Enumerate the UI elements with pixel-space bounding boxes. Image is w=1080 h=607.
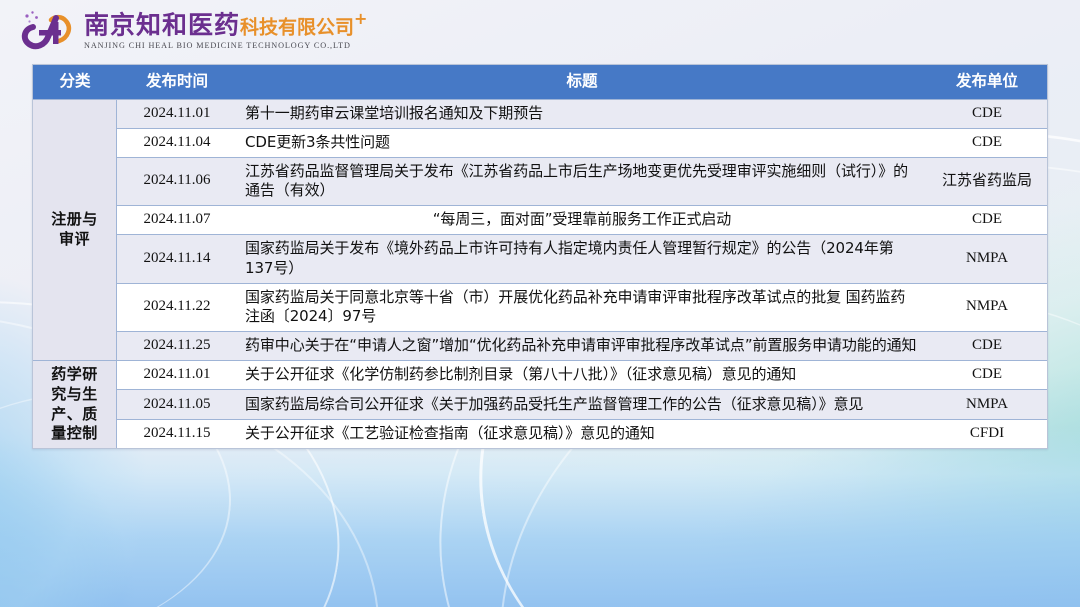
publish-date-cell: 2024.11.07 <box>117 205 237 234</box>
publishing-unit-cell: CDE <box>927 331 1047 360</box>
title-cell: 药审中心关于在“申请人之窗”增加“优化药品补充申请审评审批程序改革试点”前置服务… <box>237 331 927 360</box>
brand-name-english: NANJING CHI HEAL BIO MEDICINE TECHNOLOGY… <box>84 41 368 50</box>
table-body: 注册与审评2024.11.01第十一期药审云课堂培训报名通知及下期预告CDE20… <box>33 99 1047 448</box>
publish-date-cell: 2024.11.22 <box>117 283 237 332</box>
brand-plus-icon: + <box>354 9 368 28</box>
table-row: 2024.11.04CDE更新3条共性问题CDE <box>33 128 1047 157</box>
table-row: 2024.11.06江苏省药品监督管理局关于发布《江苏省药品上市后生产场地变更优… <box>33 157 1047 206</box>
column-header-unit: 发布单位 <box>927 65 1047 99</box>
publishing-unit-cell: CDE <box>927 128 1047 157</box>
brand-name-sub: 科技有限公司 <box>240 16 354 38</box>
column-header-category: 分类 <box>33 65 117 99</box>
brand-name: 南京知和医药科技有限公司+ <box>84 11 368 37</box>
company-logo-icon <box>16 8 78 54</box>
title-cell: 国家药监局关于发布《境外药品上市许可持有人指定境内责任人管理暂行规定》的公告（2… <box>237 234 927 283</box>
publishing-unit-cell: CDE <box>927 360 1047 389</box>
brand-text-block: 南京知和医药科技有限公司+ NANJING CHI HEAL BIO MEDIC… <box>84 11 368 50</box>
background-bottom-band <box>0 427 1080 607</box>
publishing-unit-cell: CDE <box>927 205 1047 234</box>
publishing-unit-cell: NMPA <box>927 389 1047 418</box>
table-row: 2024.11.15关于公开征求《工艺验证检查指南（征求意见稿）》意见的通知CF… <box>33 419 1047 448</box>
column-header-date: 发布时间 <box>117 65 237 99</box>
table-row: 2024.11.05国家药监局综合司公开征求《关于加强药品受托生产监督管理工作的… <box>33 389 1047 418</box>
publish-date-cell: 2024.11.15 <box>117 419 237 448</box>
title-cell: 国家药监局综合司公开征求《关于加强药品受托生产监督管理工作的公告（征求意见稿）》… <box>237 389 927 418</box>
category-cell: 注册与审评 <box>33 99 117 360</box>
slide-canvas: 南京知和医药科技有限公司+ NANJING CHI HEAL BIO MEDIC… <box>0 0 1080 607</box>
table-row: 2024.11.14国家药监局关于发布《境外药品上市许可持有人指定境内责任人管理… <box>33 234 1047 283</box>
table-row: 2024.11.22国家药监局关于同意北京等十省（市）开展优化药品补充申请审评审… <box>33 283 1047 332</box>
publishing-unit-cell: NMPA <box>927 234 1047 283</box>
column-header-title: 标题 <box>237 65 927 99</box>
publishing-unit-cell: 江苏省药监局 <box>927 157 1047 206</box>
publish-date-cell: 2024.11.01 <box>117 99 237 128</box>
table-row: 注册与审评2024.11.01第十一期药审云课堂培训报名通知及下期预告CDE <box>33 99 1047 128</box>
publishing-unit-cell: NMPA <box>927 283 1047 332</box>
title-cell: 关于公开征求《化学仿制药参比制剂目录（第八十八批）》（征求意见稿）意见的通知 <box>237 360 927 389</box>
publish-date-cell: 2024.11.01 <box>117 360 237 389</box>
publish-date-cell: 2024.11.25 <box>117 331 237 360</box>
title-cell: CDE更新3条共性问题 <box>237 128 927 157</box>
title-cell: 国家药监局关于同意北京等十省（市）开展优化药品补充申请审评审批程序改革试点的批复… <box>237 283 927 332</box>
title-cell: 江苏省药品监督管理局关于发布《江苏省药品上市后生产场地变更优先受理审评实施细则（… <box>237 157 927 206</box>
table-row: 2024.11.25药审中心关于在“申请人之窗”增加“优化药品补充申请审评审批程… <box>33 331 1047 360</box>
table-row: 2024.11.07“每周三，面对面”受理靠前服务工作正式启动CDE <box>33 205 1047 234</box>
publishing-unit-cell: CDE <box>927 99 1047 128</box>
category-cell: 药学研究与生产、质量控制 <box>33 360 117 448</box>
publish-date-cell: 2024.11.14 <box>117 234 237 283</box>
publishing-unit-cell: CFDI <box>927 419 1047 448</box>
publish-date-cell: 2024.11.05 <box>117 389 237 418</box>
title-cell: 关于公开征求《工艺验证检查指南（征求意见稿）》意见的通知 <box>237 419 927 448</box>
title-cell: 第十一期药审云课堂培训报名通知及下期预告 <box>237 99 927 128</box>
publish-date-cell: 2024.11.06 <box>117 157 237 206</box>
publish-date-cell: 2024.11.04 <box>117 128 237 157</box>
brand-header: 南京知和医药科技有限公司+ NANJING CHI HEAL BIO MEDIC… <box>0 0 1080 60</box>
table-row: 药学研究与生产、质量控制2024.11.01关于公开征求《化学仿制药参比制剂目录… <box>33 360 1047 389</box>
brand-name-main: 南京知和医药 <box>84 10 240 39</box>
table-header-row: 分类 发布时间 标题 发布单位 <box>33 65 1047 99</box>
title-cell: “每周三，面对面”受理靠前服务工作正式启动 <box>237 205 927 234</box>
regulatory-news-table: 分类 发布时间 标题 发布单位 注册与审评2024.11.01第十一期药审云课堂… <box>32 64 1048 449</box>
